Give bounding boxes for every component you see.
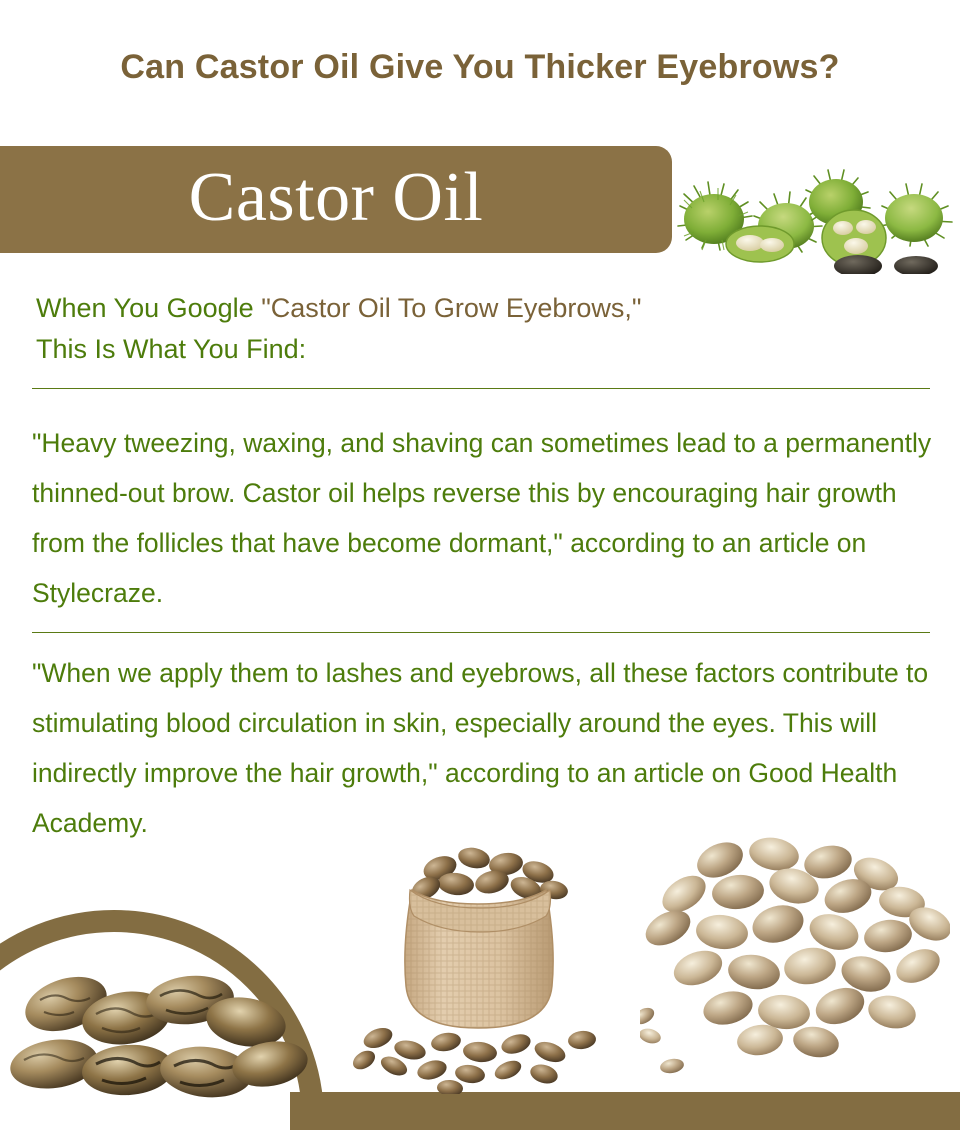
page-title: Can Castor Oil Give You Thicker Eyebrows… xyxy=(0,48,960,87)
bottom-bar xyxy=(290,1092,960,1130)
quote-stylecraze: "Heavy tweezing, waxing, and shaving can… xyxy=(32,418,948,618)
infographic-root: Can Castor Oil Give You Thicker Eyebrows… xyxy=(0,0,960,1130)
headline-search-query: "Castor Oil To Grow Eyebrows," xyxy=(261,293,641,323)
google-search-headline: When You Google "Castor Oil To Grow Eyeb… xyxy=(36,288,926,370)
castor-seeds-image xyxy=(10,960,310,1100)
divider-top xyxy=(32,388,930,389)
quote-good-health-academy: "When we apply them to lashes and eyebro… xyxy=(32,648,948,848)
divider-middle xyxy=(32,632,930,633)
castor-oil-banner: Castor Oil xyxy=(0,146,672,253)
castor-seed-pods-image xyxy=(668,148,960,274)
headline-part-3: This Is What You Find: xyxy=(36,329,926,370)
burlap-sack-image xyxy=(330,832,630,1094)
banner-label: Castor Oil xyxy=(0,146,672,253)
castor-bean-pile-image xyxy=(640,820,950,1085)
headline-part-1: When You Google xyxy=(36,293,261,323)
